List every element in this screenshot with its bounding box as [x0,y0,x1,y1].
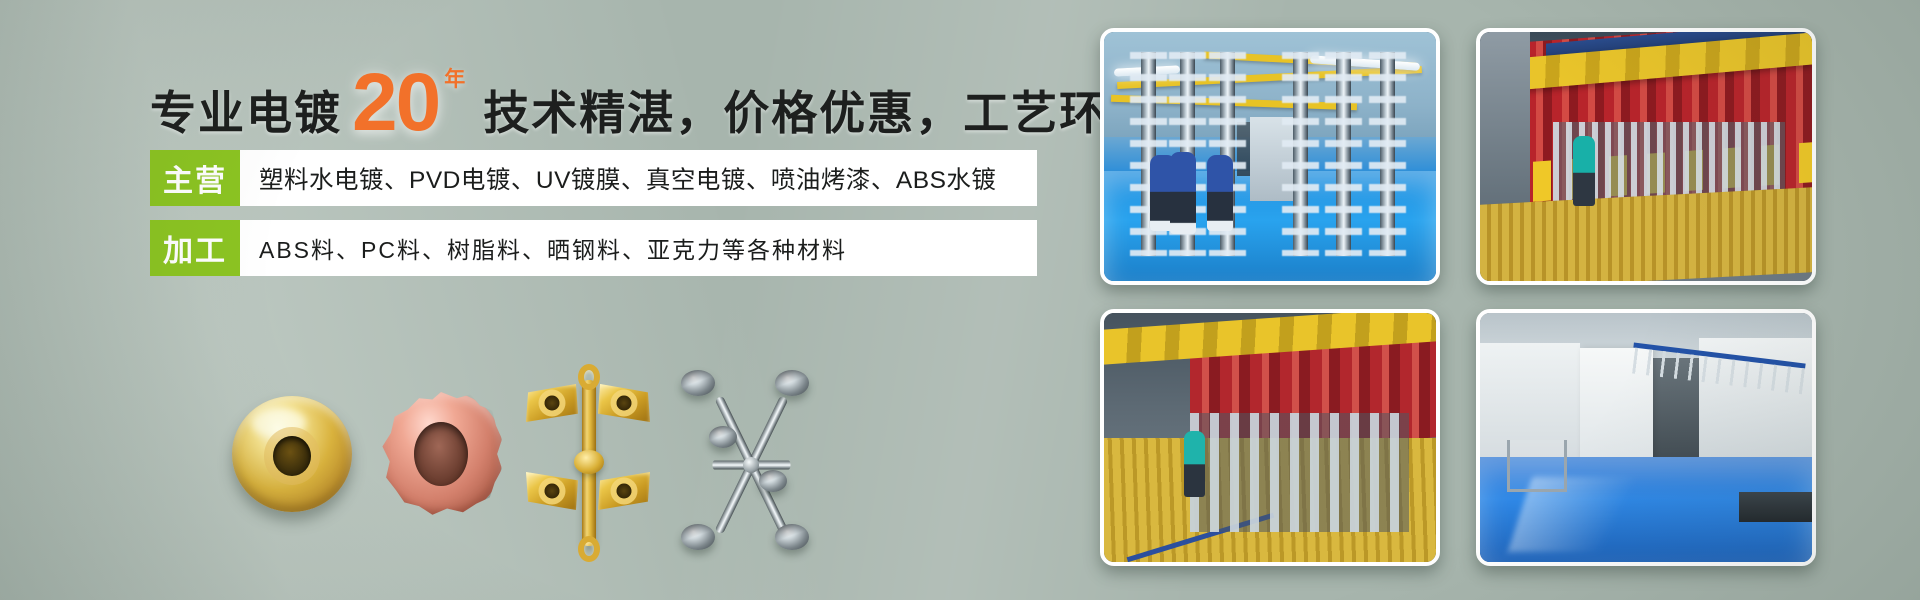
ornament-loop-top [578,364,600,390]
ornament-hole [545,484,560,499]
ornament-hole [617,396,632,411]
copy-block: 专业电镀 20 年 技术精湛，价格优惠，工艺环保 主营 塑料水电镀、PVD电镀、… [150,48,1070,276]
ornament-center-knot [574,450,604,474]
main-business-text: 塑料水电镀、PVD电镀、UV镀膜、真空电镀、喷油烤漆、ABS水镀 [240,150,1037,206]
worker [1573,136,1595,206]
star-tip [681,524,715,550]
ornament-diamond-3 [526,472,578,510]
ornament-diamond-1 [526,384,578,422]
plating-jigs [1190,413,1409,533]
ornament-diamond-2 [598,384,650,422]
photo-conveyor-line-red-yellow [1476,28,1816,285]
ornament-diamond-4 [598,472,650,510]
worker [1170,152,1196,234]
left-column [1480,32,1530,231]
headline: 专业电镀 20 年 技术精湛，价格优惠，工艺环保 [150,48,1070,136]
service-row-main: 主营 塑料水电镀、PVD电镀、UV镀膜、真空电镀、喷油烤漆、ABS水镀 [150,150,1037,206]
facility-photo-grid [1100,28,1890,573]
star-tip [709,426,737,448]
plating-rack [1293,52,1308,256]
ornament-hole [545,396,560,411]
headline-tail: 技术精湛，价格优惠，工艺环保 [483,90,1155,136]
worker [1184,431,1205,497]
years-number: 20 [352,57,439,148]
promo-banner: 专业电镀 20 年 技术精湛，价格优惠，工艺环保 主营 塑料水电镀、PVD电镀、… [0,0,1920,600]
tag-processing: 加工 [150,220,240,276]
floor-mat [1739,492,1812,522]
plating-rack [1380,52,1395,256]
processing-text: ABS料、PC料、树脂料、晒钢料、亚克力等各种材料 [240,220,1037,276]
plating-rack [1336,52,1351,256]
ornament-loop-bottom [578,536,600,562]
star-tip [759,470,787,492]
sample-rose-gold-scalloped-ring [380,392,502,516]
photo-plating-workshop-racks [1100,28,1440,285]
star-tip [681,370,715,396]
years-unit: 年 [444,63,465,93]
star-tip [775,370,809,396]
product-samples [232,390,852,570]
star-tip [775,524,809,550]
sample-chrome-star-fitting [687,374,815,556]
star-hub [743,457,759,473]
sample-gold-ornament-set [524,376,654,551]
years-badge: 20 年 [352,69,439,136]
worker [1207,155,1233,231]
service-row-processing: 加工 ABS料、PC料、树脂料、晒钢料、亚克力等各种材料 [150,220,1037,276]
yellow-grating-floor [1480,188,1812,285]
ornament-hole [617,484,632,499]
photo-cleanroom-blue-floor [1476,309,1816,566]
headline-lead: 专业电镀 [150,90,342,136]
tag-main-business: 主营 [150,150,240,206]
sample-gold-plated-ring [232,396,352,512]
photo-grating-walkway-jigs [1100,309,1440,566]
metal-cart [1507,440,1567,492]
